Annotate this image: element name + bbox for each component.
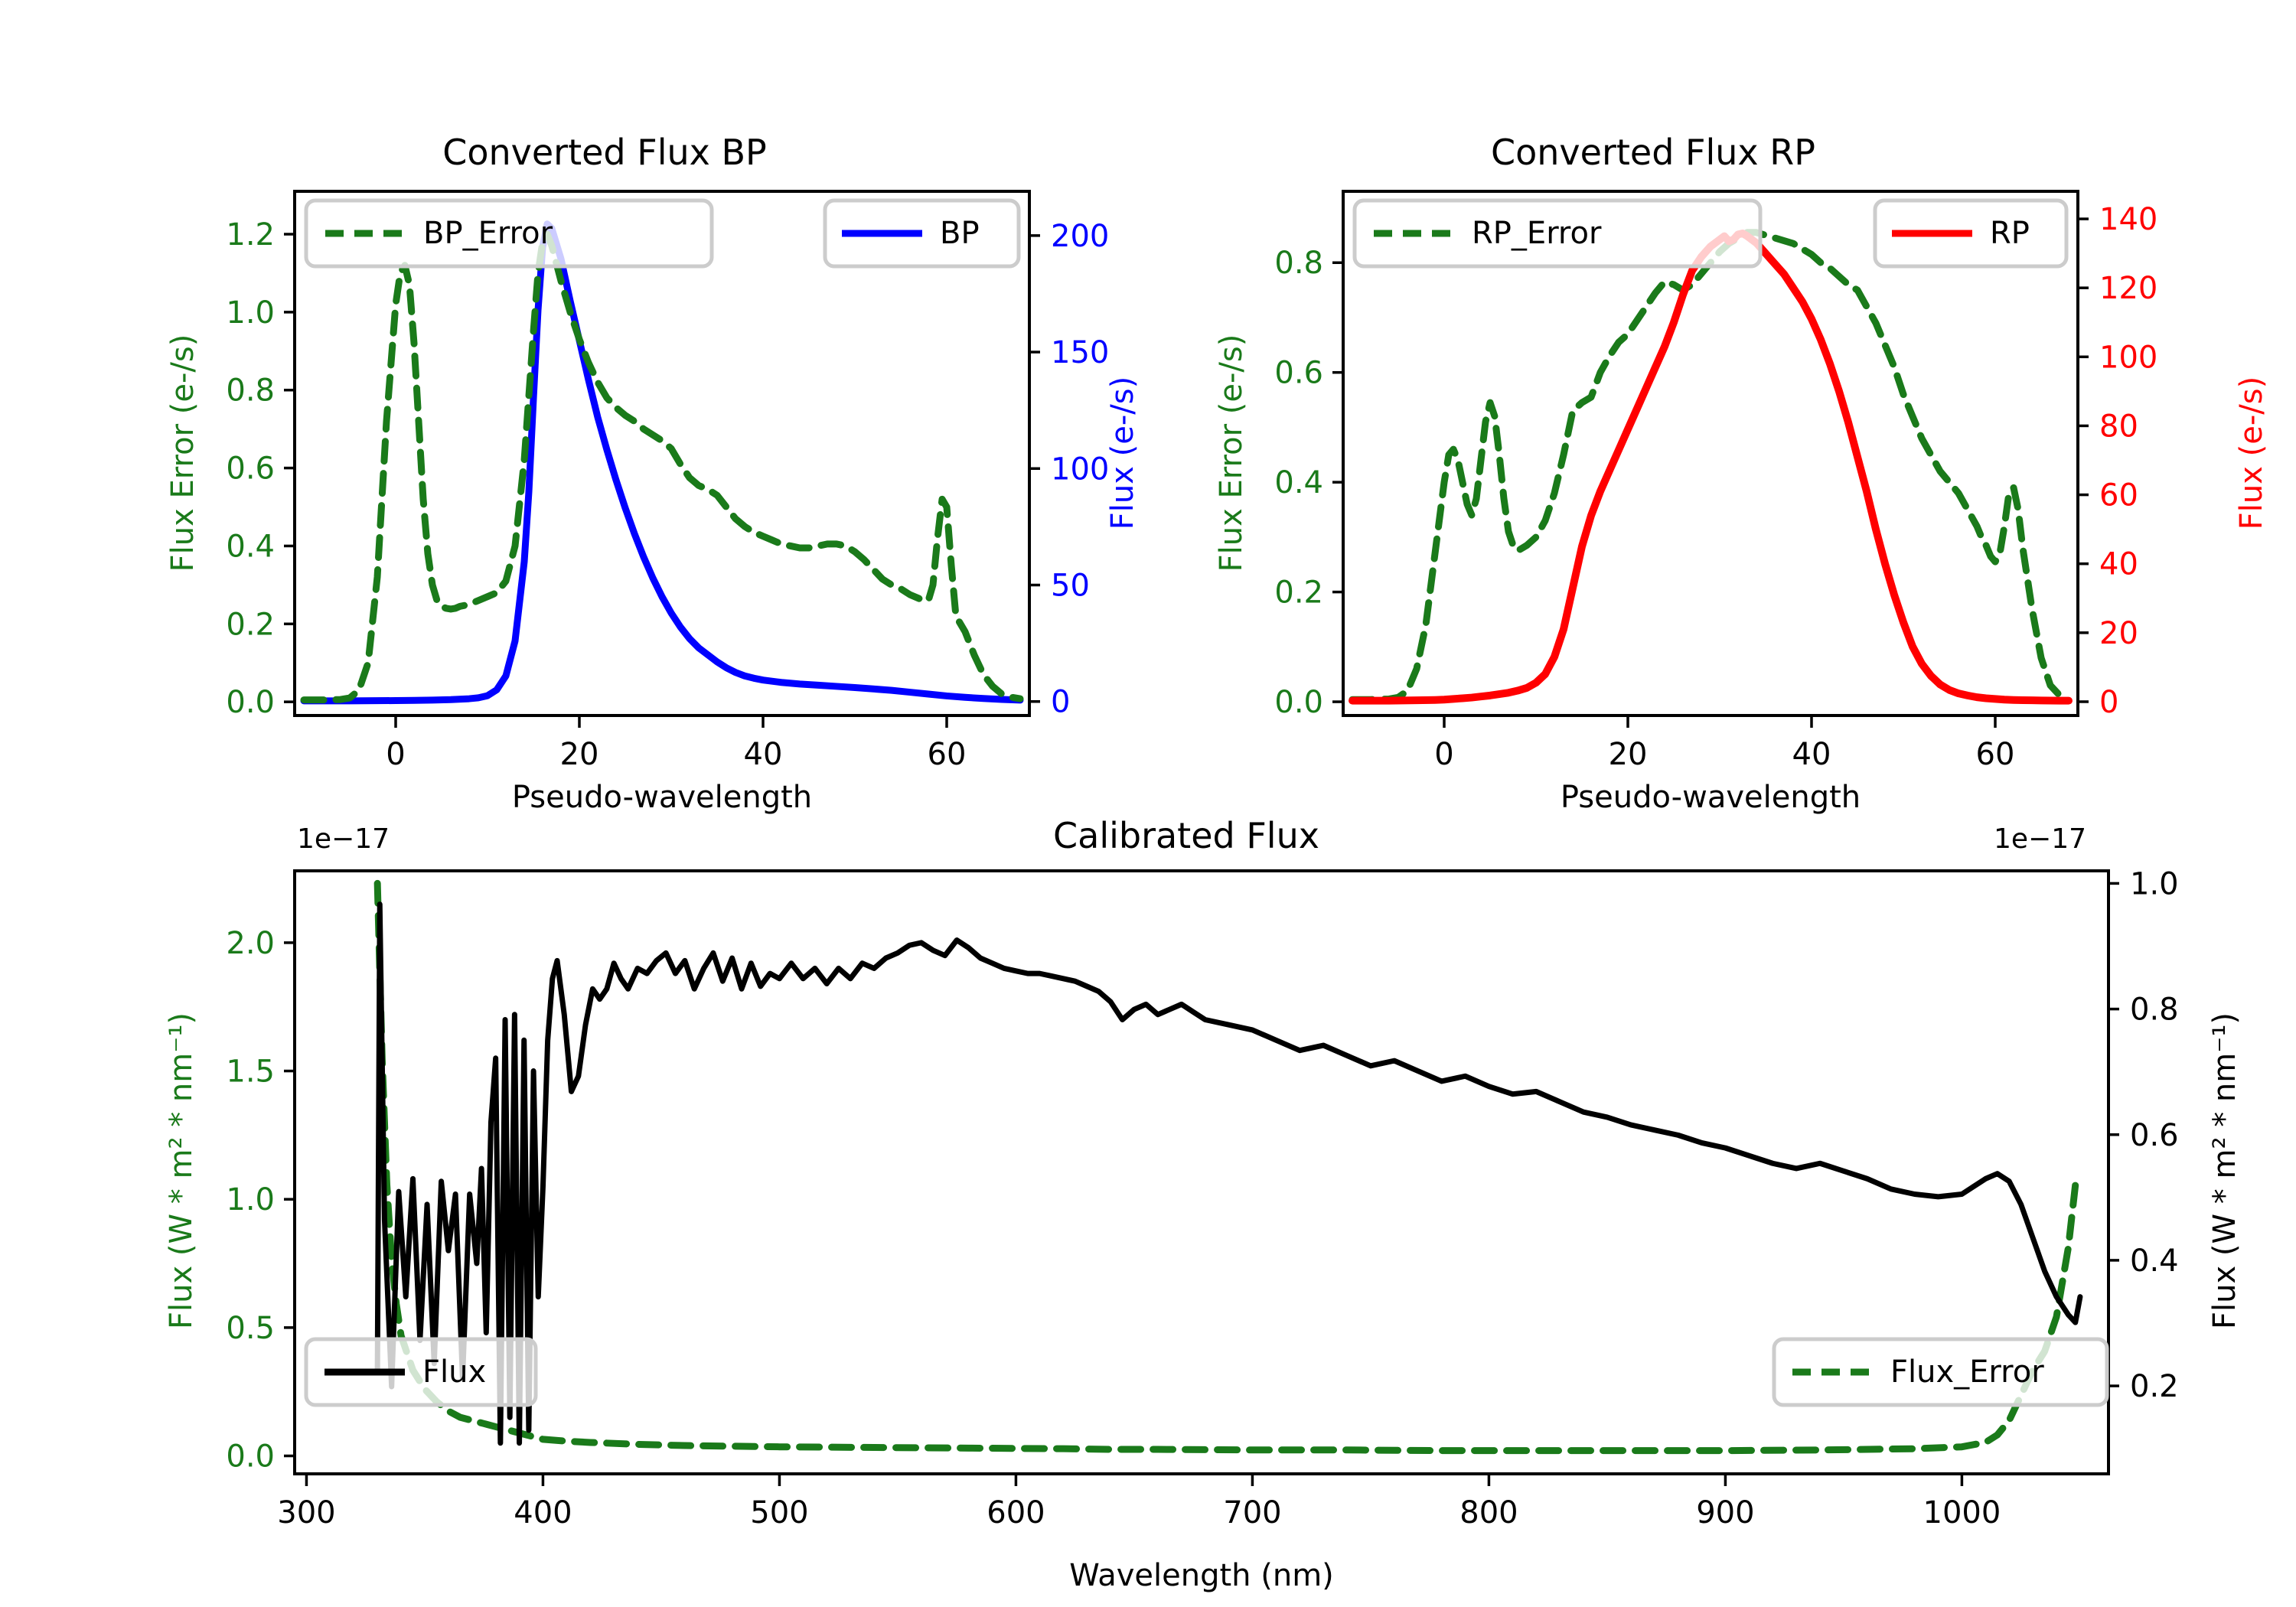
calibrated-left-yaxis: 0.00.51.01.52.0 Flux (W * m² * nm⁻¹) bbox=[164, 926, 295, 1475]
svg-text:600: 600 bbox=[987, 1495, 1045, 1530]
rp-data-lines bbox=[1352, 233, 2069, 701]
svg-text:0.2: 0.2 bbox=[226, 607, 275, 642]
svg-text:0.4: 0.4 bbox=[226, 529, 275, 564]
calibrated-panel-title: Calibrated Flux bbox=[1053, 815, 1319, 856]
rp-left-yaxis: 0.00.20.40.60.8 Flux Error (e-/s) bbox=[1214, 246, 1343, 720]
bp-legend-flux[interactable]: BP bbox=[825, 200, 1019, 266]
bp-xlabel: Pseudo-wavelength bbox=[512, 780, 812, 815]
bp-legend-error[interactable]: BP_Error bbox=[306, 200, 712, 266]
svg-text:0.4: 0.4 bbox=[1274, 465, 1323, 500]
svg-text:100: 100 bbox=[1051, 451, 1109, 487]
bp-error-legend-label: BP_Error bbox=[423, 216, 553, 251]
rp-xlabel: Pseudo-wavelength bbox=[1561, 780, 1861, 815]
svg-text:0: 0 bbox=[1051, 685, 1070, 720]
svg-text:0.6: 0.6 bbox=[1274, 356, 1323, 391]
svg-text:1.0: 1.0 bbox=[226, 295, 275, 331]
bp-right-yaxis: 050100150200 Flux (e-/s) bbox=[1029, 219, 1140, 720]
calibrated-left-exponent: 1e−17 bbox=[297, 823, 390, 855]
svg-text:20: 20 bbox=[2099, 616, 2138, 651]
rp-legend-flux[interactable]: RP bbox=[1875, 200, 2066, 266]
svg-text:60: 60 bbox=[928, 737, 967, 772]
bp-data-lines bbox=[304, 224, 1020, 701]
svg-text:900: 900 bbox=[1696, 1495, 1754, 1530]
svg-text:0.4: 0.4 bbox=[2130, 1244, 2179, 1279]
svg-text:140: 140 bbox=[2099, 202, 2157, 237]
svg-text:20: 20 bbox=[560, 737, 599, 772]
svg-text:120: 120 bbox=[2099, 271, 2157, 306]
calibrated-ylabel-left: Flux (W * m² * nm⁻¹) bbox=[164, 1012, 199, 1329]
rp-legend-error[interactable]: RP_Error bbox=[1355, 200, 1760, 266]
bp-panel-title: Converted Flux BP bbox=[442, 132, 767, 173]
svg-text:1.0: 1.0 bbox=[2130, 866, 2179, 901]
svg-text:800: 800 bbox=[1459, 1495, 1518, 1530]
flux-error-legend-label: Flux_Error bbox=[1890, 1354, 2044, 1390]
calibrated-legend-flux[interactable]: Flux bbox=[306, 1339, 536, 1405]
svg-text:300: 300 bbox=[277, 1495, 335, 1530]
calibrated-right-yaxis: 0.20.40.60.81.0 Flux (W * m² * nm⁻¹) bbox=[2108, 866, 2242, 1404]
svg-text:40: 40 bbox=[2099, 547, 2138, 582]
panel-converted-flux-rp: Converted Flux RP 0.00.20.40.60.8 Flux E… bbox=[1148, 0, 2296, 811]
svg-text:40: 40 bbox=[1792, 737, 1831, 772]
svg-text:100: 100 bbox=[2099, 340, 2157, 375]
bp-flux-legend-label: BP bbox=[940, 216, 980, 251]
svg-text:500: 500 bbox=[750, 1495, 808, 1530]
svg-text:20: 20 bbox=[1609, 737, 1648, 772]
calibrated-ylabel-right: Flux (W * m² * nm⁻¹) bbox=[2207, 1012, 2242, 1329]
rp-flux-legend-label: RP bbox=[1990, 216, 2030, 251]
svg-text:1000: 1000 bbox=[1923, 1495, 2001, 1530]
svg-text:40: 40 bbox=[744, 737, 783, 772]
svg-text:80: 80 bbox=[2099, 409, 2138, 444]
svg-text:400: 400 bbox=[514, 1495, 572, 1530]
svg-text:0.6: 0.6 bbox=[2130, 1118, 2179, 1153]
svg-text:0.0: 0.0 bbox=[226, 1439, 275, 1475]
panel-converted-flux-bp: Converted Flux BP 0.00.20.40.60.81.01.2 … bbox=[0, 0, 1148, 811]
calibrated-right-exponent: 1e−17 bbox=[1994, 823, 2086, 855]
svg-text:0: 0 bbox=[386, 737, 405, 772]
bp-ylabel-left: Flux Error (e-/s) bbox=[165, 334, 201, 572]
calibrated-legend-flux-error[interactable]: Flux_Error bbox=[1774, 1339, 2107, 1405]
svg-text:0.0: 0.0 bbox=[1274, 685, 1323, 720]
svg-text:700: 700 bbox=[1223, 1495, 1281, 1530]
svg-text:2.0: 2.0 bbox=[226, 926, 275, 961]
flux-legend-label: Flux bbox=[422, 1354, 486, 1390]
svg-text:0.0: 0.0 bbox=[226, 685, 275, 720]
svg-text:0: 0 bbox=[2099, 685, 2118, 720]
rp-error-legend-label: RP_Error bbox=[1472, 216, 1602, 251]
svg-text:0.8: 0.8 bbox=[226, 373, 275, 409]
svg-text:0.8: 0.8 bbox=[2130, 993, 2179, 1028]
rp-panel-title: Converted Flux RP bbox=[1491, 132, 1815, 173]
svg-text:0.2: 0.2 bbox=[1274, 575, 1323, 611]
svg-text:0: 0 bbox=[1434, 737, 1453, 772]
calibrated-xlabel: Wavelength (nm) bbox=[1069, 1558, 1334, 1593]
rp-xaxis: 0204060 Pseudo-wavelength bbox=[1434, 715, 2014, 815]
rp-ylabel-left: Flux Error (e-/s) bbox=[1214, 334, 1249, 572]
svg-text:50: 50 bbox=[1051, 569, 1090, 604]
svg-text:200: 200 bbox=[1051, 219, 1109, 254]
rp-ylabel-right: Flux (e-/s) bbox=[2234, 376, 2269, 530]
svg-text:0.6: 0.6 bbox=[226, 451, 275, 487]
svg-text:0.2: 0.2 bbox=[2130, 1369, 2179, 1404]
panel-calibrated-flux: Calibrated Flux 1e−17 1e−17 0.00.51.01.5… bbox=[0, 811, 2296, 1607]
bp-xaxis: 0204060 Pseudo-wavelength bbox=[386, 715, 966, 815]
calibrated-xaxis: 3004005006007008009001000 Wavelength (nm… bbox=[277, 1474, 2001, 1593]
bp-ylabel-right: Flux (e-/s) bbox=[1105, 376, 1140, 530]
bp-left-yaxis: 0.00.20.40.60.81.01.2 Flux Error (e-/s) bbox=[165, 217, 295, 720]
svg-text:150: 150 bbox=[1051, 335, 1109, 370]
svg-text:1.2: 1.2 bbox=[226, 217, 275, 253]
svg-text:1.5: 1.5 bbox=[226, 1054, 275, 1090]
svg-text:60: 60 bbox=[1976, 737, 2015, 772]
svg-text:1.0: 1.0 bbox=[226, 1182, 275, 1217]
matplotlib-figure: Converted Flux BP 0.00.20.40.60.81.01.2 … bbox=[0, 0, 2296, 1607]
svg-text:0.8: 0.8 bbox=[1274, 246, 1323, 281]
rp-right-yaxis: 020406080100120140 Flux (e-/s) bbox=[2078, 202, 2269, 720]
svg-text:0.5: 0.5 bbox=[226, 1311, 275, 1346]
svg-text:60: 60 bbox=[2099, 478, 2138, 513]
